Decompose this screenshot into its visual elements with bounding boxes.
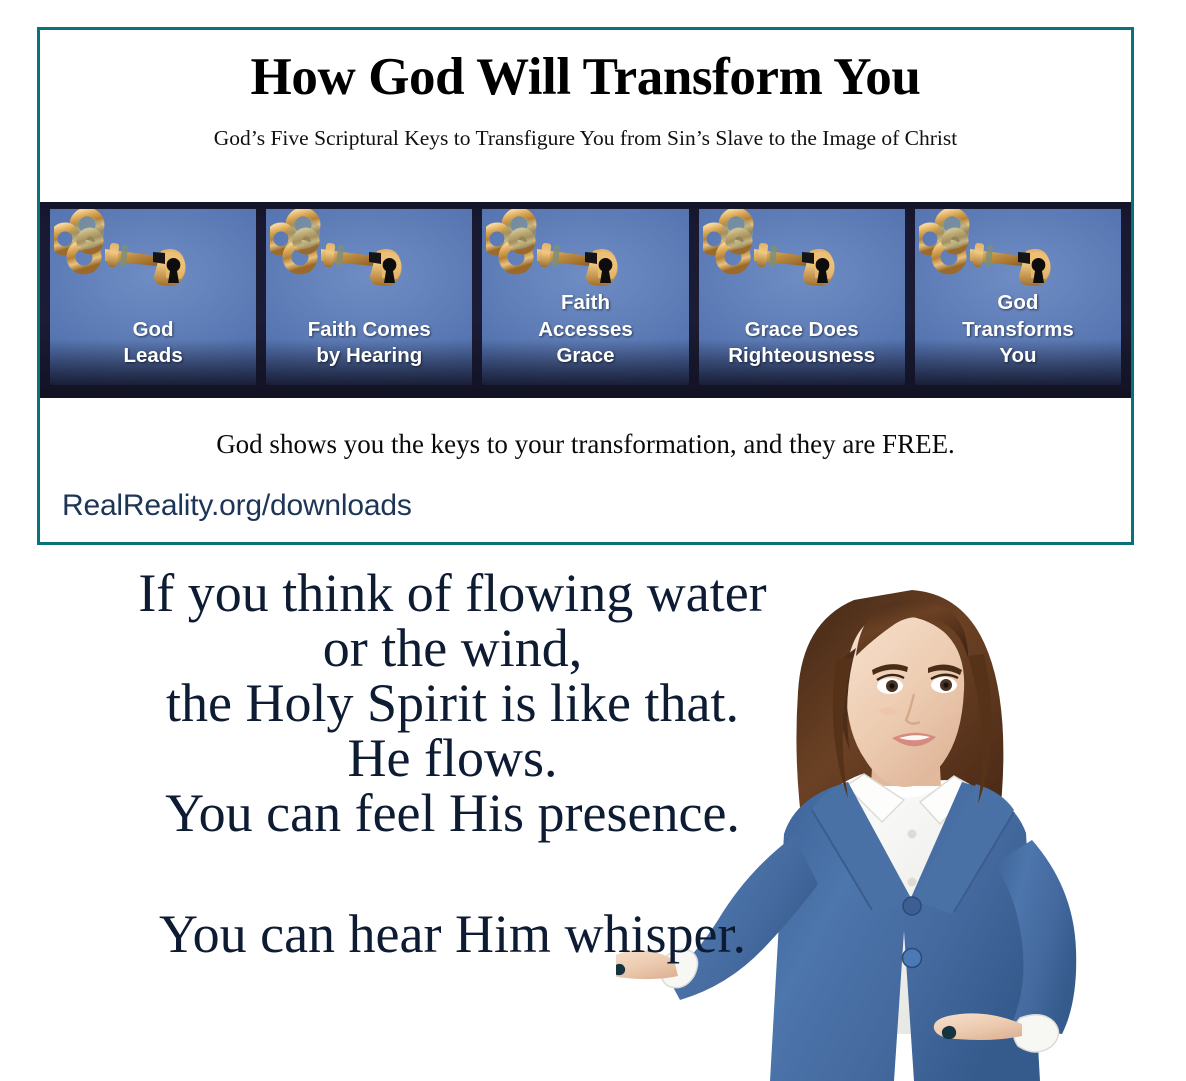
key-label-line: Righteousness	[728, 344, 875, 367]
key-label-4: Grace Does Righteousness	[699, 317, 905, 369]
key-label-line: Faith Comes	[308, 318, 431, 341]
key-label-line: Accesses	[538, 318, 633, 341]
key-label-line: by Hearing	[316, 344, 422, 367]
card-footer: God shows you the keys to your transform…	[40, 398, 1131, 523]
quote-block: If you think of flowing water or the win…	[0, 566, 905, 962]
quote-line-1: If you think of flowing water	[0, 566, 905, 621]
nose	[906, 694, 920, 724]
key-label-5: God Transforms You	[915, 290, 1121, 369]
key-label-line: You	[999, 344, 1036, 367]
key-label-2: Faith Comes by Hearing	[266, 317, 472, 369]
card-subtitle: God’s Five Scriptural Keys to Transfigur…	[40, 106, 1131, 151]
key-icon	[270, 209, 438, 301]
quote-line-6: You can hear Him whisper.	[0, 841, 905, 962]
quote-line-4: He flows.	[0, 731, 905, 786]
right-fingernail	[942, 1026, 956, 1039]
downloads-link[interactable]: RealReality.org/downloads	[40, 460, 1131, 523]
key-icon	[54, 209, 222, 301]
key-panel-3[interactable]: Faith Accesses Grace	[482, 209, 688, 385]
key-label-line: Leads	[123, 344, 182, 367]
cheek-blush-right	[938, 705, 958, 713]
lapel-seam-right	[954, 812, 1014, 912]
right-hand	[934, 1013, 1022, 1040]
key-panel-2[interactable]: Faith Comes by Hearing	[266, 209, 472, 385]
card-header: How God Will Transform You God’s Five Sc…	[40, 30, 1131, 151]
shirt-collar-right	[920, 776, 974, 824]
right-cuff	[1013, 1015, 1058, 1052]
shirt-buttons	[908, 830, 917, 931]
key-label-line: God	[133, 318, 174, 341]
key-panel-1[interactable]: God Leads	[50, 209, 256, 385]
quote-line-2: or the wind,	[0, 621, 905, 676]
key-label-line: Grace	[556, 344, 614, 367]
key-label-1: God Leads	[50, 317, 256, 369]
page-title: How God Will Transform You	[40, 50, 1131, 106]
right-sleeve	[994, 840, 1076, 1034]
free-tagline: God shows you the keys to your transform…	[40, 398, 1131, 460]
key-icon	[486, 209, 654, 301]
quote-line-3: the Holy Spirit is like that.	[0, 676, 905, 731]
hair-strand-right	[968, 654, 992, 804]
key-panel-5[interactable]: God Transforms You	[915, 209, 1121, 385]
key-label-3: Faith Accesses Grace	[482, 290, 688, 369]
key-label-line: Transforms	[962, 318, 1074, 341]
keys-strip: God Leads	[40, 202, 1131, 398]
key-icon	[919, 209, 1087, 301]
blazer-button-top	[903, 897, 921, 915]
promo-card: How God Will Transform You God’s Five Sc…	[37, 27, 1134, 545]
key-panel-4[interactable]: Grace Does Righteousness	[699, 209, 905, 385]
blazer-button-bottom	[903, 949, 922, 968]
blazer-lapel-right	[912, 784, 1014, 914]
key-label-line: Grace Does	[745, 318, 859, 341]
quote-line-5: You can feel His presence.	[0, 786, 905, 841]
key-label-line: Faith	[561, 291, 610, 314]
key-label-line: God	[997, 291, 1038, 314]
key-icon	[703, 209, 871, 301]
left-fingernail	[616, 964, 625, 975]
